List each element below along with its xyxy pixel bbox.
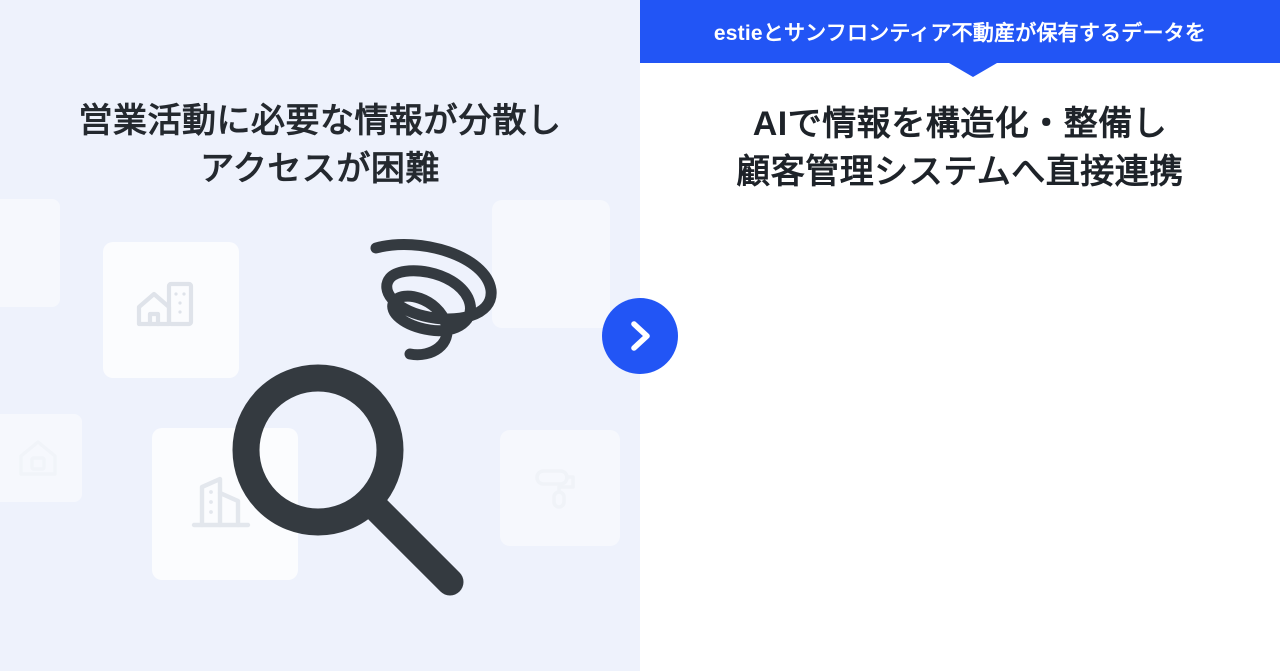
banner: estieとサンフロンティア不動産が保有するデータを (640, 0, 1280, 63)
house-building-icon (135, 274, 207, 346)
left-heading: 営業活動に必要な情報が分散し アクセスが困難 (0, 97, 640, 194)
magnifying-glass-icon (218, 350, 478, 600)
banner-notch (949, 63, 997, 77)
paint-roller-icon (531, 459, 589, 517)
banner-text: estieとサンフロンティア不動産が保有するデータを (714, 17, 1206, 47)
paint-roller-card (500, 430, 620, 546)
chevron-right-icon (623, 319, 657, 353)
transition-arrow-badge (602, 298, 678, 374)
blank-card (0, 199, 60, 307)
comparison-graphic: estieとサンフロンティア不動産が保有するデータを 営業活動に必要な情報が分散… (0, 0, 1280, 671)
small-house-card (0, 414, 82, 502)
right-heading: AIで情報を構造化・整備し 顧客管理システムへ直接連携 (640, 100, 1280, 197)
small-house-icon (16, 436, 60, 480)
